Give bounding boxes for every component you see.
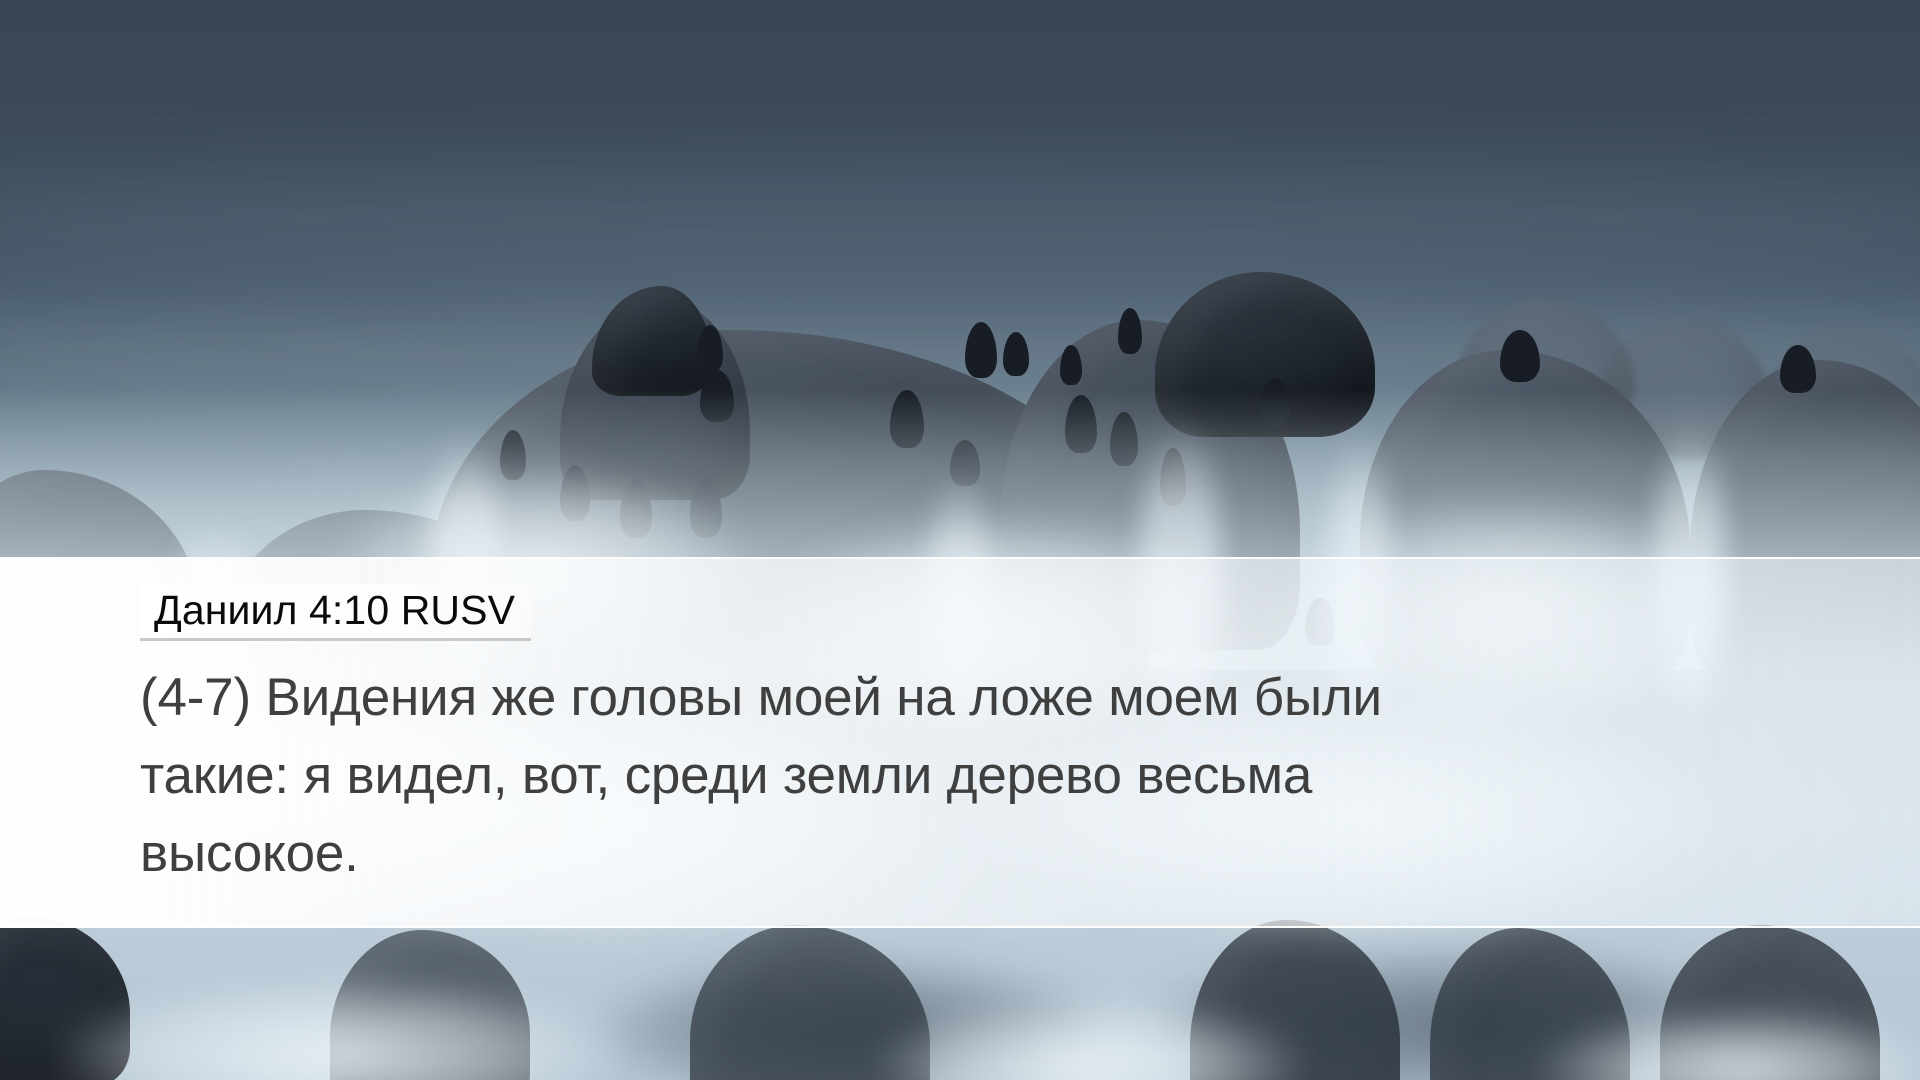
verse-line-2: такие: я видел, вот, среди земли дерево … <box>140 737 1840 815</box>
verse-image-card: Даниил 4:10 RUSV (4-7) Видения же головы… <box>0 0 1920 1080</box>
verse-reference-label: Даниил 4:10 RUSV <box>154 588 515 632</box>
verse-line-1: (4-7) Видения же головы моей на ложе мое… <box>140 659 1840 737</box>
verse-line-3: высокое. <box>140 815 1840 893</box>
verse-text-block: (4-7) Видения же головы моей на ложе мое… <box>140 659 1840 893</box>
verse-overlay-band: Даниил 4:10 RUSV (4-7) Видения же головы… <box>0 557 1920 928</box>
verse-reference-box: Даниил 4:10 RUSV <box>140 584 531 641</box>
